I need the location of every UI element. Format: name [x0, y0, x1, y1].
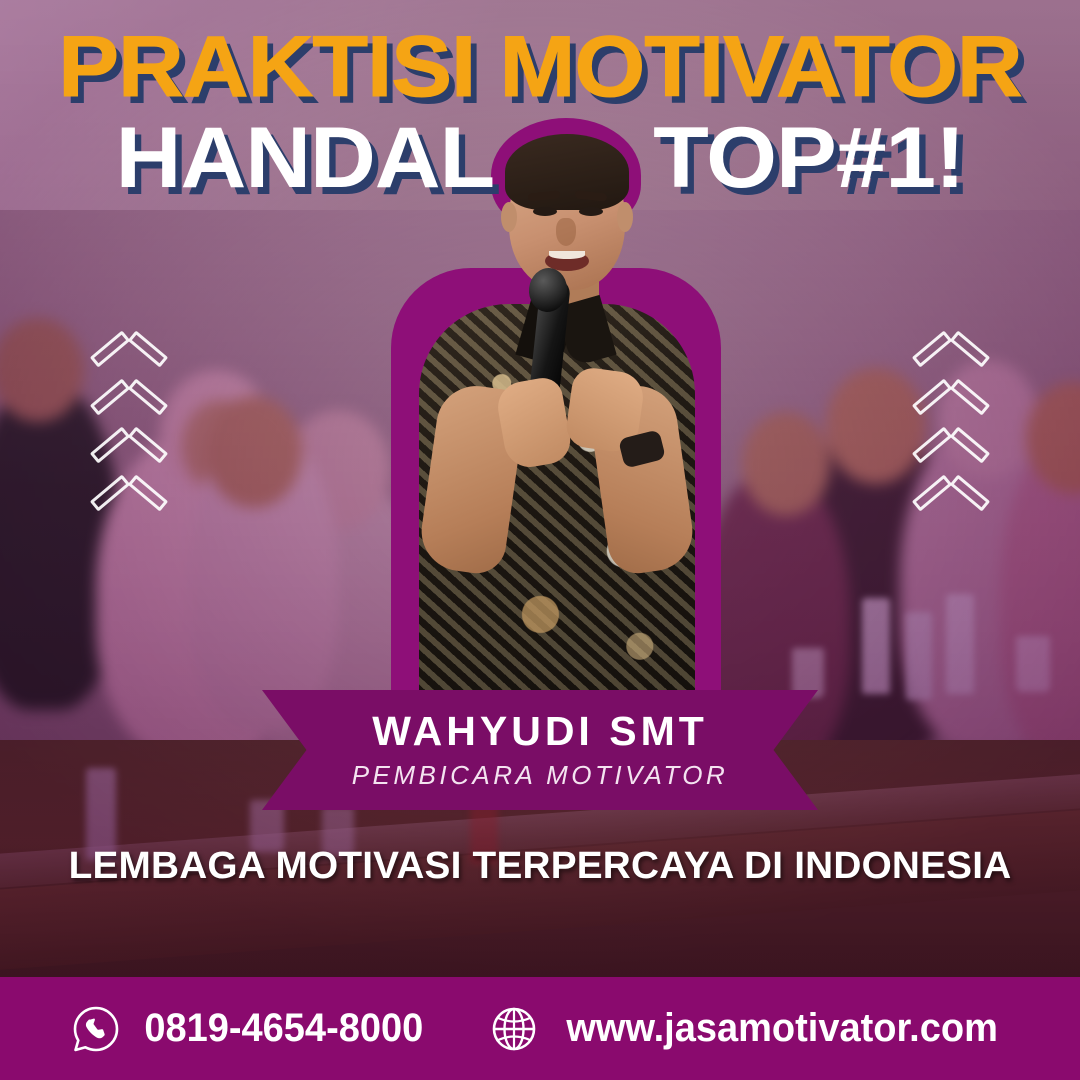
promo-poster: PRAKTISI MOTIVATOR HANDALTOP#1! WAHYUDI … [0, 0, 1080, 1080]
headline-line-1: PRAKTISI MOTIVATOR [0, 28, 1080, 107]
speaker-name-ribbon: WAHYUDI SMT PEMBICARA MOTIVATOR [262, 690, 818, 810]
speaker-cutout [383, 118, 728, 713]
eye-left [533, 207, 557, 216]
chevron-group-right [916, 352, 988, 544]
chevron-up-icon [916, 496, 986, 538]
headline-handal: HANDAL [116, 110, 495, 206]
speaker-name: WAHYUDI SMT [372, 709, 708, 754]
speaker-role: PEMBICARA MOTIVATOR [352, 760, 729, 791]
chevron-group-left [94, 352, 166, 544]
headline-block: PRAKTISI MOTIVATOR HANDALTOP#1! [0, 28, 1080, 198]
website-url: www.jasamotivator.com [566, 1006, 998, 1051]
globe-icon [489, 1004, 539, 1054]
ear-left [501, 202, 517, 232]
phone-number: 0819-4654-8000 [144, 1006, 423, 1051]
chevron-up-icon [94, 496, 164, 538]
tagline: LEMBAGA MOTIVASI TERPERCAYA DI INDONESIA [0, 845, 1080, 888]
whatsapp-phone-icon [71, 1004, 121, 1054]
nose [556, 218, 576, 246]
eye-right [579, 207, 603, 216]
ear-right [617, 202, 633, 232]
website-contact[interactable]: www.jasamotivator.com [489, 1004, 1009, 1054]
contact-footer-bar: 0819-4654-8000 www.jasamotivator.com [0, 977, 1080, 1080]
headline-top1: TOP#1! [653, 110, 964, 206]
headline-line-2: HANDALTOP#1! [0, 119, 1080, 198]
teeth [549, 251, 585, 259]
phone-contact[interactable]: 0819-4654-8000 [71, 1004, 431, 1054]
